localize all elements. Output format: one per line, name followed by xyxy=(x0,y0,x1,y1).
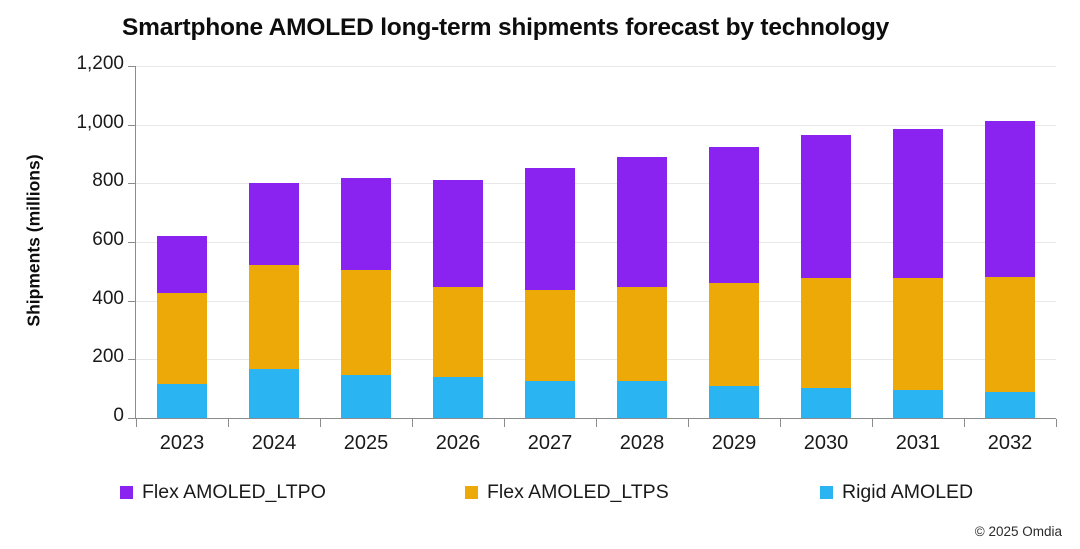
y-tick-label: 400 xyxy=(40,288,124,310)
bar-segment[interactable] xyxy=(985,121,1035,277)
legend-swatch-icon xyxy=(465,486,478,499)
bar-segment[interactable] xyxy=(801,135,851,278)
x-tick-mark xyxy=(964,419,965,427)
y-tick-mark xyxy=(128,125,136,126)
bar-stack[interactable] xyxy=(525,66,575,418)
y-tick-mark xyxy=(128,183,136,184)
bar-segment[interactable] xyxy=(341,375,391,418)
y-tick-mark xyxy=(128,66,136,67)
x-tick-label: 2027 xyxy=(504,432,596,455)
x-tick-mark xyxy=(688,419,689,427)
y-tick-label: 200 xyxy=(40,346,124,368)
bar-stack[interactable] xyxy=(433,66,483,418)
y-tick-mark xyxy=(128,301,136,302)
chart-legend: Flex AMOLED_LTPOFlex AMOLED_LTPSRigid AM… xyxy=(120,483,1000,509)
bar-segment[interactable] xyxy=(157,384,207,418)
bar-segment[interactable] xyxy=(617,381,667,418)
x-tick-label: 2023 xyxy=(136,432,228,455)
legend-item[interactable]: Flex AMOLED_LTPO xyxy=(120,483,326,503)
x-tick-mark xyxy=(780,419,781,427)
copyright-notice: © 2025 Omdia xyxy=(975,524,1062,539)
bar-segment[interactable] xyxy=(525,381,575,418)
y-tick-label: 1,200 xyxy=(40,53,124,75)
legend-item[interactable]: Flex AMOLED_LTPS xyxy=(465,483,669,503)
x-tick-mark xyxy=(412,419,413,427)
bar-segment[interactable] xyxy=(893,390,943,418)
bar-segment[interactable] xyxy=(801,388,851,418)
x-tick-label: 2031 xyxy=(872,432,964,455)
x-tick-label: 2032 xyxy=(964,432,1056,455)
bar-segment[interactable] xyxy=(525,290,575,381)
y-tick-mark xyxy=(128,418,136,419)
y-tick-mark xyxy=(128,359,136,360)
y-tick-label: 600 xyxy=(40,229,124,251)
legend-label: Rigid AMOLED xyxy=(842,483,973,503)
bar-segment[interactable] xyxy=(341,178,391,269)
bar-segment[interactable] xyxy=(801,278,851,388)
legend-label: Flex AMOLED_LTPS xyxy=(487,483,669,503)
legend-label: Flex AMOLED_LTPO xyxy=(142,483,326,503)
y-tick-label: 800 xyxy=(40,170,124,192)
x-tick-mark xyxy=(1056,419,1057,427)
bar-segment[interactable] xyxy=(157,293,207,384)
bar-segment[interactable] xyxy=(985,392,1035,418)
y-tick-label: 1,000 xyxy=(40,112,124,134)
x-tick-mark xyxy=(596,419,597,427)
x-tick-mark xyxy=(872,419,873,427)
bar-stack[interactable] xyxy=(709,66,759,418)
bar-segment[interactable] xyxy=(341,270,391,375)
x-tick-mark xyxy=(228,419,229,427)
bar-stack[interactable] xyxy=(893,66,943,418)
x-tick-mark xyxy=(504,419,505,427)
legend-swatch-icon xyxy=(820,486,833,499)
x-tick-label: 2030 xyxy=(780,432,872,455)
legend-swatch-icon xyxy=(120,486,133,499)
bar-segment[interactable] xyxy=(893,129,943,278)
bar-segment[interactable] xyxy=(709,283,759,386)
plot-area xyxy=(136,66,1056,418)
bar-stack[interactable] xyxy=(617,66,667,418)
bar-stack[interactable] xyxy=(157,66,207,418)
bar-segment[interactable] xyxy=(709,147,759,283)
y-tick-mark xyxy=(128,242,136,243)
chart-title: Smartphone AMOLED long-term shipments fo… xyxy=(122,14,1022,42)
bar-segment[interactable] xyxy=(433,377,483,418)
y-tick-label: 0 xyxy=(40,405,124,427)
bar-segment[interactable] xyxy=(157,236,207,293)
bar-segment[interactable] xyxy=(617,157,667,287)
bar-stack[interactable] xyxy=(341,66,391,418)
bar-segment[interactable] xyxy=(433,180,483,286)
bar-segment[interactable] xyxy=(525,168,575,290)
bar-segment[interactable] xyxy=(249,369,299,418)
x-tick-label: 2029 xyxy=(688,432,780,455)
x-tick-mark xyxy=(136,419,137,427)
x-axis-baseline xyxy=(136,418,1056,419)
legend-item[interactable]: Rigid AMOLED xyxy=(820,483,973,503)
bar-stack[interactable] xyxy=(801,66,851,418)
chart-figure: Smartphone AMOLED long-term shipments fo… xyxy=(0,0,1080,549)
bar-segment[interactable] xyxy=(249,183,299,264)
bar-segment[interactable] xyxy=(709,386,759,418)
bar-segment[interactable] xyxy=(249,265,299,369)
x-tick-label: 2028 xyxy=(596,432,688,455)
x-tick-label: 2025 xyxy=(320,432,412,455)
bar-segment[interactable] xyxy=(433,287,483,377)
x-tick-label: 2024 xyxy=(228,432,320,455)
bar-stack[interactable] xyxy=(985,66,1035,418)
bar-segment[interactable] xyxy=(985,277,1035,392)
bar-segment[interactable] xyxy=(617,287,667,381)
bar-stack[interactable] xyxy=(249,66,299,418)
bar-segment[interactable] xyxy=(893,278,943,390)
x-tick-mark xyxy=(320,419,321,427)
x-tick-label: 2026 xyxy=(412,432,504,455)
